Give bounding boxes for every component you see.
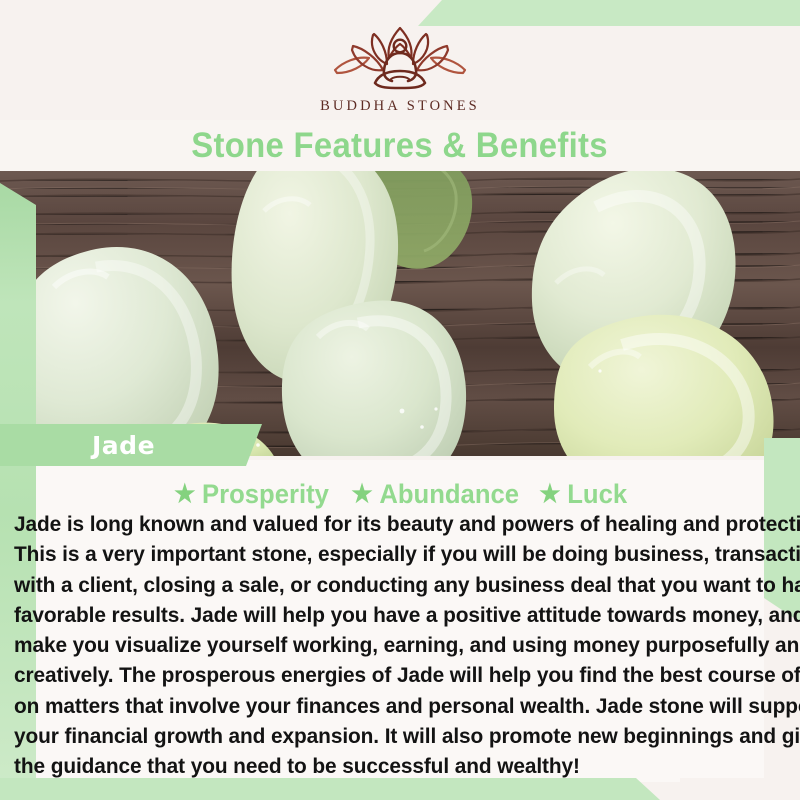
description-line: creatively. The prosperous energies of J…: [14, 660, 763, 690]
description-line: on matters that involve your finances an…: [14, 691, 763, 721]
benefit-item: ★ Abundance: [351, 479, 519, 510]
page-title: Stone Features & Benefits: [192, 126, 609, 166]
benefit-label: Luck: [568, 479, 628, 510]
decor-bottom-right-fill: [680, 778, 800, 800]
stone-name: Jade: [92, 431, 155, 460]
stone-name-banner: Jade: [0, 424, 262, 466]
description-line: your financial growth and expansion. It …: [14, 721, 763, 751]
description-line: favorable results. Jade will help you ha…: [14, 600, 763, 630]
lotus-meditation-icon: [0, 26, 800, 95]
benefit-item: ★ Luck: [540, 479, 628, 510]
benefit-label: Abundance: [379, 479, 519, 510]
description-line: the guidance that you need to be success…: [14, 751, 763, 781]
benefit-label: Prosperity: [202, 479, 329, 510]
brand-logo: BUDDHA STONES: [0, 26, 800, 115]
stone-photo-illustration: [0, 171, 800, 456]
star-icon: ★: [351, 482, 372, 507]
title-band: Stone Features & Benefits: [0, 120, 800, 172]
star-icon: ★: [540, 482, 561, 507]
description-text: Jade is long known and valued for its be…: [14, 509, 786, 782]
description-line: with a client, closing a sale, or conduc…: [14, 570, 763, 600]
benefits-row: ★ Prosperity ★ Abundance ★ Luck: [0, 478, 800, 510]
stone-photo: [0, 171, 800, 456]
header: BUDDHA STONES: [0, 0, 800, 122]
description-line: This is a very important stone, especial…: [14, 539, 763, 569]
benefit-item: ★ Prosperity: [174, 479, 329, 510]
brand-name: BUDDHA STONES: [0, 98, 800, 115]
description-line: Jade is long known and valued for its be…: [14, 509, 763, 539]
stone-info-poster: BUDDHA STONES Stone Features & Benefits: [0, 0, 800, 800]
description-line: make you visualize yourself working, ear…: [14, 630, 763, 660]
star-icon: ★: [174, 482, 195, 507]
